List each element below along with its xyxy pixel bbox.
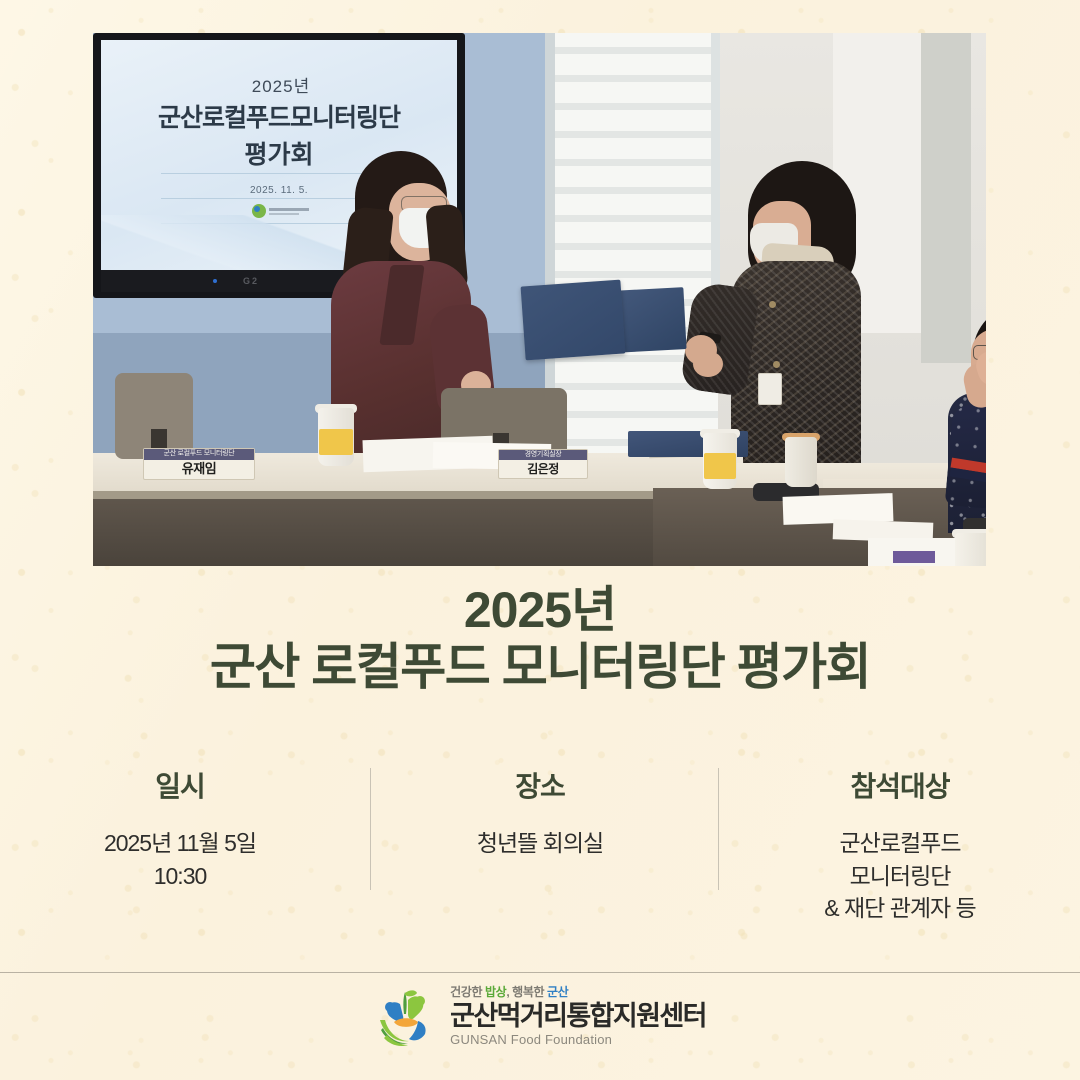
monitor-led	[213, 279, 217, 283]
page-title: 2025년 군산 로컬푸드 모니터링단 평가회	[0, 582, 1080, 697]
info-body-datetime: 2025년 11월 5일 10:30	[0, 827, 360, 892]
info-row: 일시 2025년 11월 5일 10:30 장소 청년뜰 회의실 참석대상 군산…	[0, 765, 1080, 925]
event-photo: 2025년 군산로컬푸드모니터링단 평가회 2025. 11. 5. G2	[93, 33, 986, 566]
info-line: 청년뜰 회의실	[360, 827, 720, 860]
info-body-venue: 청년뜰 회의실	[360, 827, 720, 860]
coffee-cup-4	[955, 533, 986, 566]
monitor-brand: G2	[243, 276, 259, 286]
coffee-cup-3	[785, 437, 817, 487]
certificate-folder	[521, 280, 626, 361]
info-body-attendees: 군산로컬푸드 모니터링단 & 재단 관계자 등	[720, 827, 1080, 925]
info-line: 2025년 11월 5일	[0, 827, 360, 860]
coffee-cup-1-sleeve	[319, 429, 353, 455]
info-heading-attendees: 참석대상	[720, 765, 1080, 805]
nameplate-1: 군산 로컬푸드 모니터링단 유재임	[143, 448, 255, 480]
nameplate-2-title: 경영기획실장	[499, 450, 587, 460]
organization-name: 군산먹거리통합지원센터	[450, 1003, 706, 1030]
info-line: & 재단 관계자 등	[720, 892, 1080, 925]
page-title-line2: 군산 로컬푸드 모니터링단 평가회	[0, 638, 1080, 697]
logo-tagline-part3: , 행복한	[506, 985, 547, 999]
wall-column	[921, 33, 971, 363]
coffee-cup-2-sleeve	[704, 453, 736, 479]
info-line: 모니터링단	[720, 860, 1080, 893]
info-line: 군산로컬푸드	[720, 827, 1080, 860]
nameplate-2-name: 김은정	[499, 461, 587, 477]
page-title-line1: 2025년	[0, 582, 1080, 638]
foundation-logo-icon	[374, 984, 438, 1048]
slide-line1: 2025년	[191, 72, 371, 97]
organization-name-english: GUNSAN Food Foundation	[450, 1033, 612, 1046]
info-line: 10:30	[0, 860, 360, 893]
logo-tagline: 건강한 밥상, 행복한 군산	[450, 986, 568, 998]
person-center-button-lower	[773, 361, 780, 368]
info-column-datetime: 일시 2025년 11월 5일 10:30	[0, 765, 360, 925]
info-column-attendees: 참석대상 군산로컬푸드 모니터링단 & 재단 관계자 등	[720, 765, 1080, 925]
nameplate-1-title: 군산 로컬푸드 모니터링단	[144, 449, 254, 460]
footer-logo-block: 건강한 밥상, 행복한 군산 군산먹거리통합지원센터 GUNSAN Food F…	[0, 984, 1080, 1048]
person-center-button-upper	[769, 301, 776, 308]
info-heading-venue: 장소	[360, 765, 720, 805]
nameplate-2: 경영기획실장 김은정	[498, 449, 588, 479]
foundation-logo-text: 건강한 밥상, 행복한 군산 군산먹거리통합지원센터 GUNSAN Food F…	[450, 986, 706, 1046]
wall-outlet	[758, 373, 782, 405]
logo-tagline-green: 밥상	[485, 985, 506, 999]
logo-tagline-blue: 군산	[547, 985, 568, 999]
nameplate-1-name: 유재임	[144, 461, 254, 477]
papers-right-accent	[893, 551, 935, 563]
info-heading-datetime: 일시	[0, 765, 360, 805]
window-blind	[548, 33, 718, 463]
slide-line2: 군산로컬푸드모니터링단	[111, 98, 447, 134]
footer-divider	[0, 972, 1080, 973]
person-center-hand-lower	[693, 351, 723, 377]
info-column-venue: 장소 청년뜰 회의실	[360, 765, 720, 925]
logo-tagline-part1: 건강한	[450, 985, 485, 999]
